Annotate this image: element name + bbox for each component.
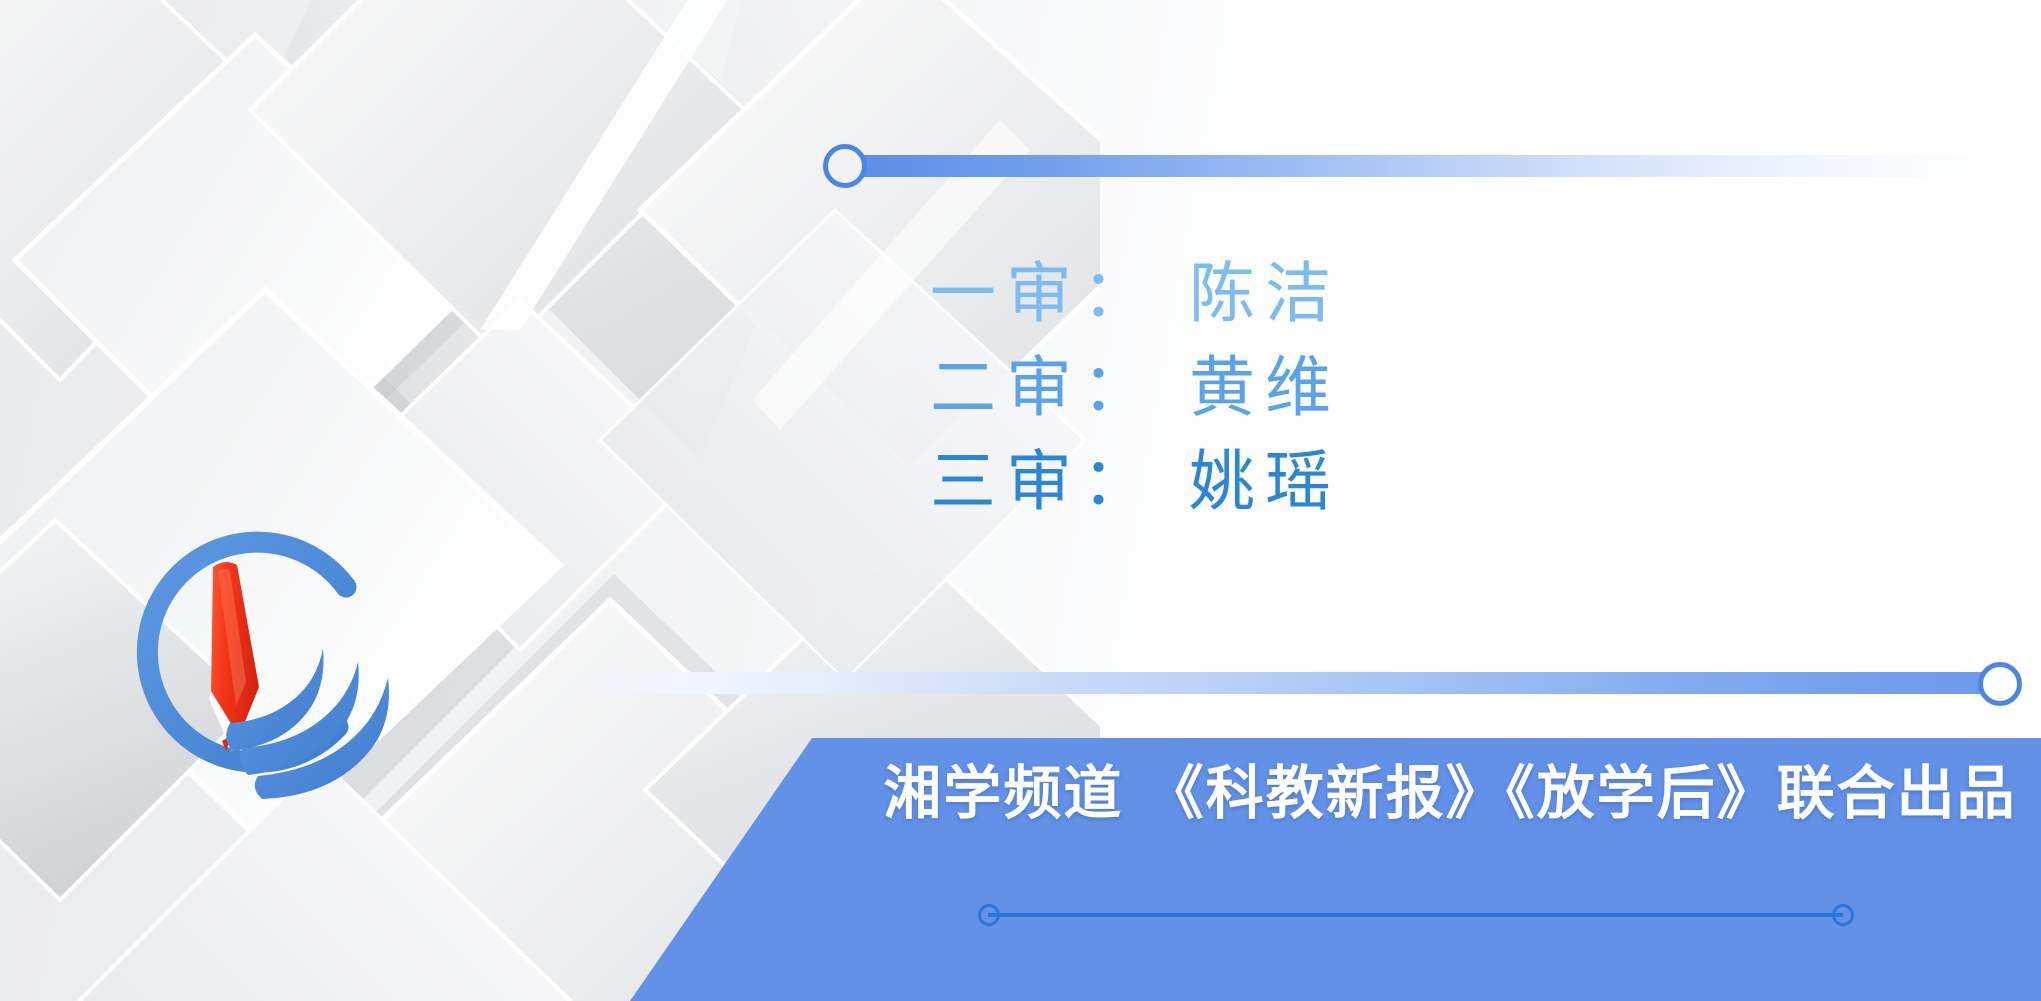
credit-line-third-review: 三审： 姚瑶 xyxy=(930,435,1630,529)
credits-block: 一审： 陈洁 二审： 黄维 三审： 姚瑶 xyxy=(930,247,1630,529)
end-card-canvas: 一审： 陈洁 二审： 黄维 三审： 姚瑶 湘学频道 《科教新报》《放学后》联合出… xyxy=(0,0,2041,1001)
producer-credit-text: 湘学频道 《科教新报》《放学后》联合出品 xyxy=(880,758,2020,828)
top-connector-node-icon xyxy=(823,144,867,188)
channel-logo xyxy=(95,495,425,825)
mid-connector-line xyxy=(555,672,2005,694)
mid-connector-node-icon xyxy=(1978,662,2022,706)
credit-line-first-review: 一审： 陈洁 xyxy=(930,247,1630,341)
credit-line-second-review: 二审： 黄维 xyxy=(930,341,1630,435)
top-connector-line xyxy=(862,155,1997,177)
banner-rule-left-node-icon xyxy=(978,904,1000,926)
banner-rule-right-node-icon xyxy=(1832,904,1854,926)
banner-rule xyxy=(988,913,1843,917)
